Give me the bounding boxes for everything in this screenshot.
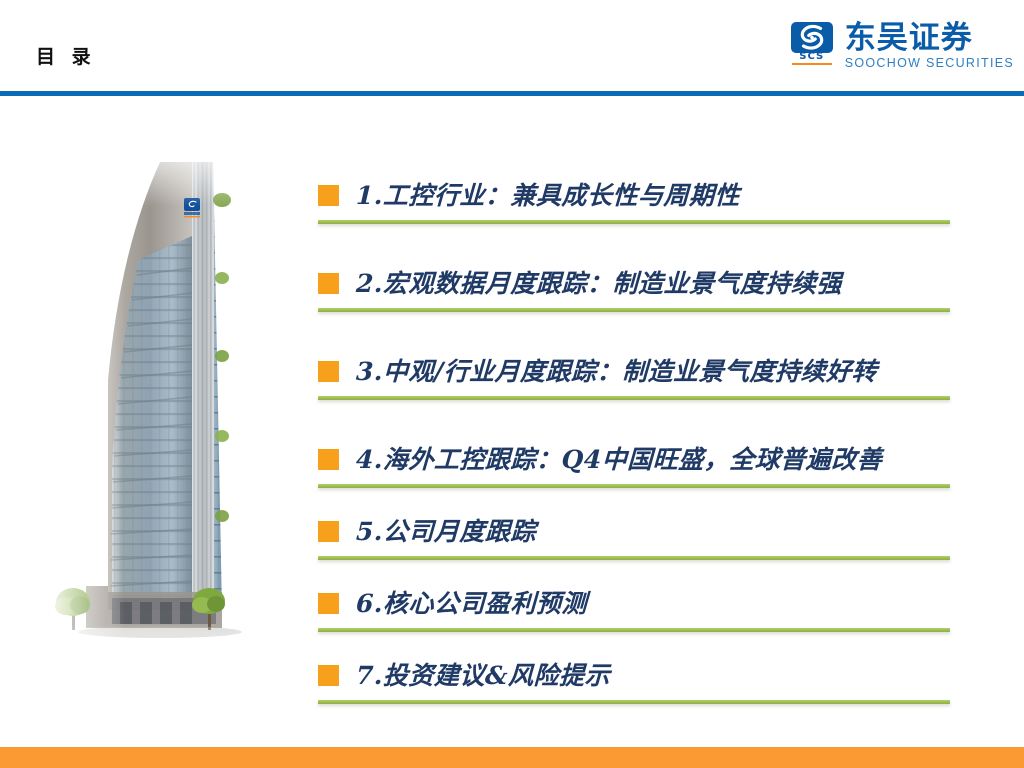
slide-header: 目 录 SCS 东吴证券 SOOCHOW SECURITIES xyxy=(0,0,1024,97)
toc-item-1[interactable]: 1.工控行业：兼具成长性与周期性 xyxy=(318,172,958,224)
toc-row-6[interactable]: 6.核心公司盈利预测 xyxy=(318,580,958,626)
toc-spacer xyxy=(318,224,958,260)
bullet-square-icon xyxy=(318,273,339,294)
toc-divider xyxy=(318,484,950,488)
headquarters-building-image xyxy=(42,140,302,690)
toc-spacer xyxy=(318,560,958,580)
toc-item-label: 2.宏观数据月度跟踪：制造业景气度持续强 xyxy=(356,271,843,296)
toc-spacer xyxy=(318,632,958,652)
toc-item-7[interactable]: 7.投资建议&风险提示 xyxy=(318,652,958,704)
company-logo: SCS 东吴证券 SOOCHOW SECURITIES xyxy=(790,22,1014,80)
table-of-contents: 1.工控行业：兼具成长性与周期性 2.宏观数据月度跟踪：制造业景气度持续强 3.… xyxy=(318,172,958,704)
toc-row-2[interactable]: 2.宏观数据月度跟踪：制造业景气度持续强 xyxy=(318,260,958,306)
toc-item-label: 4.海外工控跟踪：Q4中国旺盛，全球普遍改善 xyxy=(356,447,883,472)
slide-canvas: 目 录 SCS 东吴证券 SOOCHOW SECURITIES xyxy=(0,0,1024,768)
toc-row-3[interactable]: 3.中观/行业月度跟踪：制造业景气度持续好转 xyxy=(318,348,958,394)
toc-spacer xyxy=(318,488,958,508)
logo-swirl-icon xyxy=(791,22,833,53)
toc-divider xyxy=(318,308,950,312)
toc-item-label: 3.中观/行业月度跟踪：制造业景气度持续好转 xyxy=(356,359,878,384)
toc-row-4[interactable]: 4.海外工控跟踪：Q4中国旺盛，全球普遍改善 xyxy=(318,436,958,482)
toc-divider xyxy=(318,700,950,704)
building-illustration xyxy=(42,140,302,690)
toc-item-label: 7.投资建议&风险提示 xyxy=(356,663,611,688)
bullet-square-icon xyxy=(318,593,339,614)
bullet-square-icon xyxy=(318,449,339,470)
toc-item-label: 5.公司月度跟踪 xyxy=(356,519,537,544)
toc-divider xyxy=(318,556,950,560)
bullet-square-icon xyxy=(318,361,339,382)
logo-company-cn: 东吴证券 xyxy=(845,22,1014,54)
toc-divider xyxy=(318,396,950,400)
toc-item-6[interactable]: 6.核心公司盈利预测 xyxy=(318,580,958,632)
footer-accent-bar xyxy=(0,747,1024,768)
bullet-square-icon xyxy=(318,665,339,686)
toc-row-5[interactable]: 5.公司月度跟踪 xyxy=(318,508,958,554)
toc-item-label: 1.工控行业：兼具成长性与周期性 xyxy=(356,183,741,208)
logo-mark-icon: SCS xyxy=(790,22,836,64)
toc-item-2[interactable]: 2.宏观数据月度跟踪：制造业景气度持续强 xyxy=(318,260,958,312)
toc-item-5[interactable]: 5.公司月度跟踪 xyxy=(318,508,958,560)
toc-row-7[interactable]: 7.投资建议&风险提示 xyxy=(318,652,958,698)
header-divider-rule xyxy=(0,91,1024,96)
toc-item-3[interactable]: 3.中观/行业月度跟踪：制造业景气度持续好转 xyxy=(318,348,958,400)
logo-scs-underline xyxy=(792,63,832,65)
toc-spacer xyxy=(318,400,958,436)
toc-item-label: 6.核心公司盈利预测 xyxy=(356,591,588,616)
bullet-square-icon xyxy=(318,185,339,206)
logo-wordmark: 东吴证券 SOOCHOW SECURITIES xyxy=(845,22,1014,70)
page-title: 目 录 xyxy=(36,48,96,67)
toc-item-4[interactable]: 4.海外工控跟踪：Q4中国旺盛，全球普遍改善 xyxy=(318,436,958,488)
logo-scs-text: SCS xyxy=(792,52,832,62)
toc-row-1[interactable]: 1.工控行业：兼具成长性与周期性 xyxy=(318,172,958,218)
toc-spacer xyxy=(318,312,958,348)
bullet-square-icon xyxy=(318,521,339,542)
toc-divider xyxy=(318,628,950,632)
toc-divider xyxy=(318,220,950,224)
logo-company-en: SOOCHOW SECURITIES xyxy=(845,57,1014,70)
